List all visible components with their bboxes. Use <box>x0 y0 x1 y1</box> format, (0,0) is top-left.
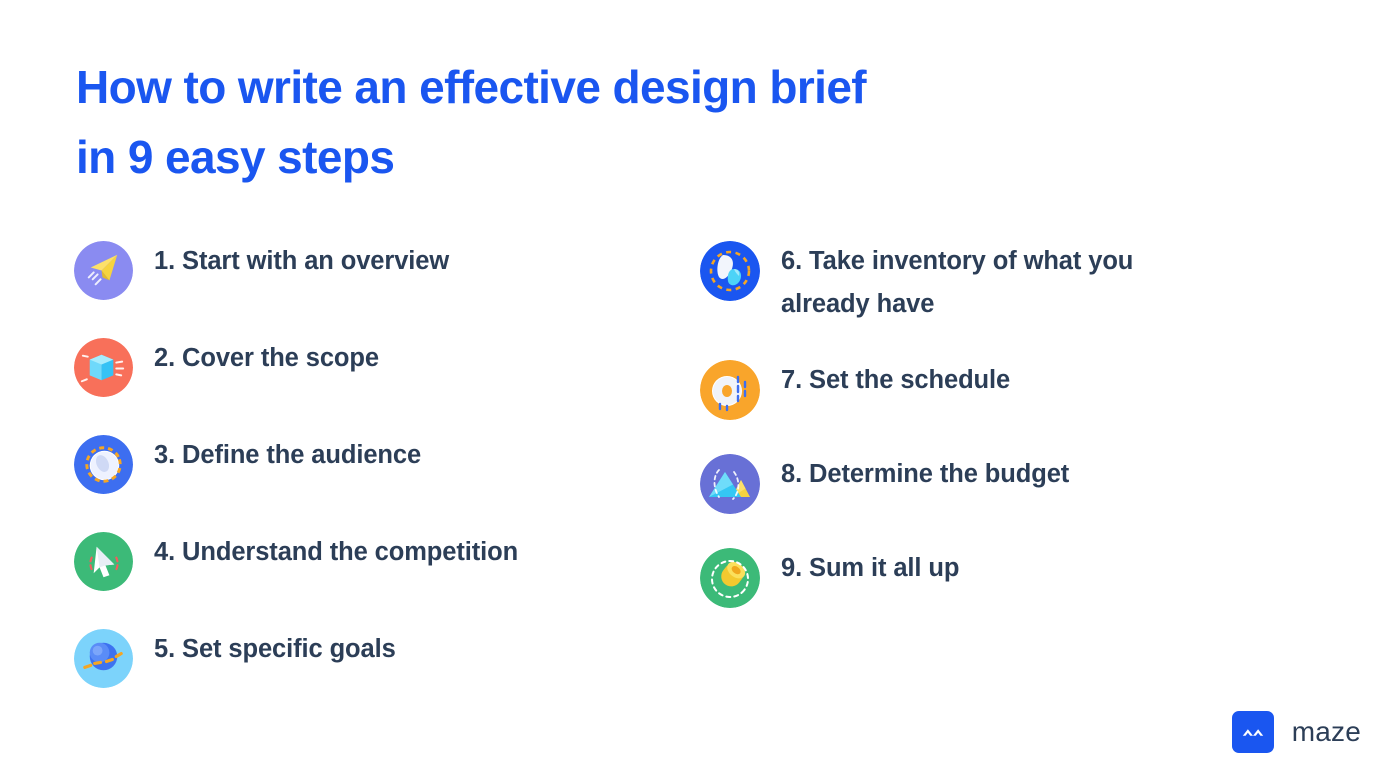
list-item: 9. Sum it all up <box>700 547 1300 608</box>
orbit-donut-icon <box>74 435 133 494</box>
schedule-donut-icon <box>700 360 760 420</box>
page-title-line-2: in 9 easy steps <box>76 122 1096 192</box>
list-item-label: 9. Sum it all up <box>781 547 959 590</box>
brand-logo: maze <box>1232 711 1361 753</box>
list-item-label: 4. Understand the competition <box>154 531 518 574</box>
list-item: 5. Set specific goals <box>74 628 674 688</box>
list-item-label: 8. Determine the budget <box>781 453 1069 496</box>
list-item: 3. Define the audience <box>74 434 674 494</box>
list-item-label: 6. Take inventory of what you already ha… <box>781 240 1201 326</box>
maze-chevrons-icon <box>1232 711 1274 753</box>
cursor-arrow-icon <box>74 532 133 591</box>
coin-stack-icon <box>700 548 760 608</box>
list-item-label: 3. Define the audience <box>154 434 421 477</box>
list-item-label: 7. Set the schedule <box>781 359 1010 402</box>
list-item: 2. Cover the scope <box>74 337 674 397</box>
page-title-line-1: How to write an effective design brief <box>76 52 1096 122</box>
steps-column-left: 1. Start with an overview <box>74 240 674 725</box>
cube-icon <box>74 338 133 397</box>
planet-icon <box>74 629 133 688</box>
paper-plane-icon <box>74 241 133 300</box>
list-item-label: 2. Cover the scope <box>154 337 379 380</box>
list-item: 6. Take inventory of what you already ha… <box>700 240 1300 326</box>
list-item: 4. Understand the competition <box>74 531 674 591</box>
list-item: 7. Set the schedule <box>700 359 1300 420</box>
list-item-label: 1. Start with an overview <box>154 240 449 283</box>
page-title: How to write an effective design brief i… <box>76 52 1096 192</box>
brand-name: maze <box>1292 716 1361 748</box>
mountains-icon <box>700 454 760 514</box>
list-item: 1. Start with an overview <box>74 240 674 300</box>
inventory-orbit-icon <box>700 241 760 301</box>
steps-column-right: 6. Take inventory of what you already ha… <box>700 240 1300 641</box>
infographic-slide: How to write an effective design brief i… <box>0 0 1383 779</box>
list-item: 8. Determine the budget <box>700 453 1300 514</box>
list-item-label: 5. Set specific goals <box>154 628 396 671</box>
